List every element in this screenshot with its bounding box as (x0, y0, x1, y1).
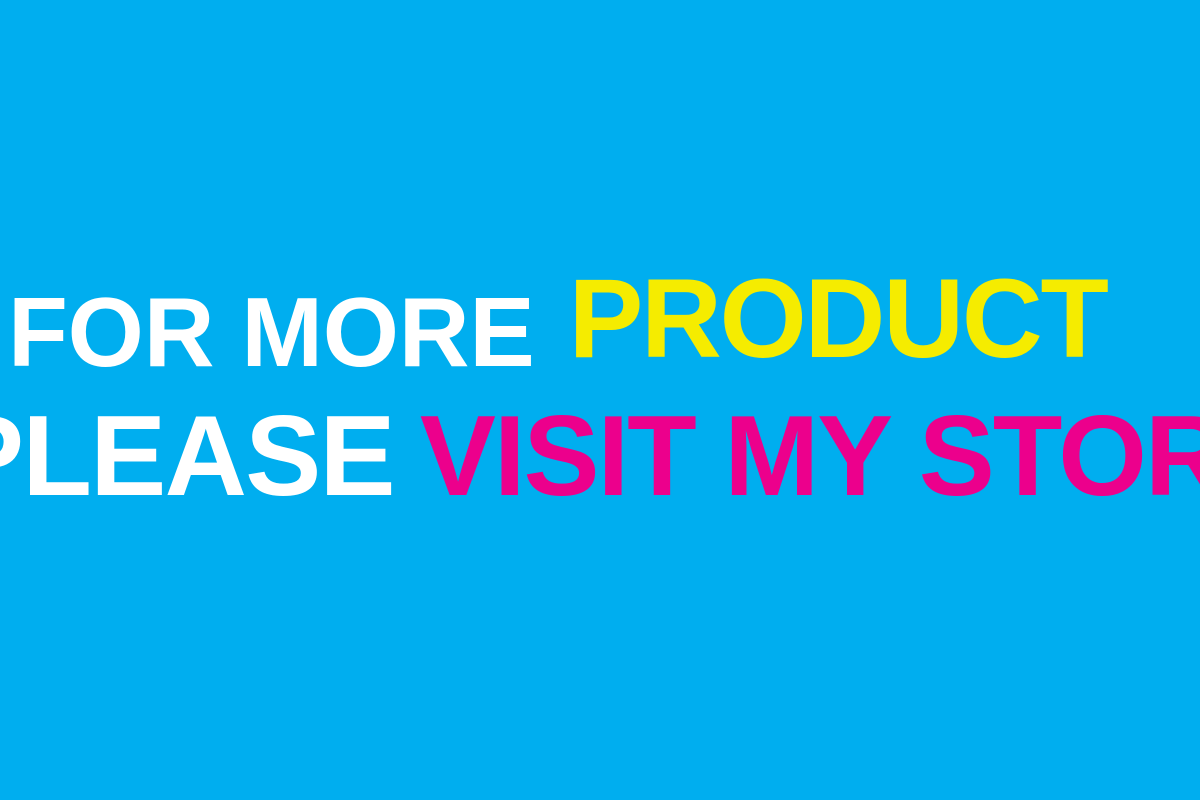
headline-block: FOR MOREPRODUCT PLEASEVISIT MY STORE (0, 0, 1200, 800)
promo-banner: FOR MOREPRODUCT PLEASEVISIT MY STORE (0, 0, 1200, 800)
headline-line-1: FOR MOREPRODUCT (8, 272, 1107, 384)
headline-text-product: PRODUCT (569, 263, 1107, 375)
headline-text-for-more: FOR MORE (8, 283, 535, 381)
headline-line-2: PLEASEVISIT MY STORE (0, 400, 1200, 514)
headline-text-visit-my-store: VISIT MY STORE (420, 400, 1200, 514)
headline-text-please: PLEASE (0, 400, 394, 514)
